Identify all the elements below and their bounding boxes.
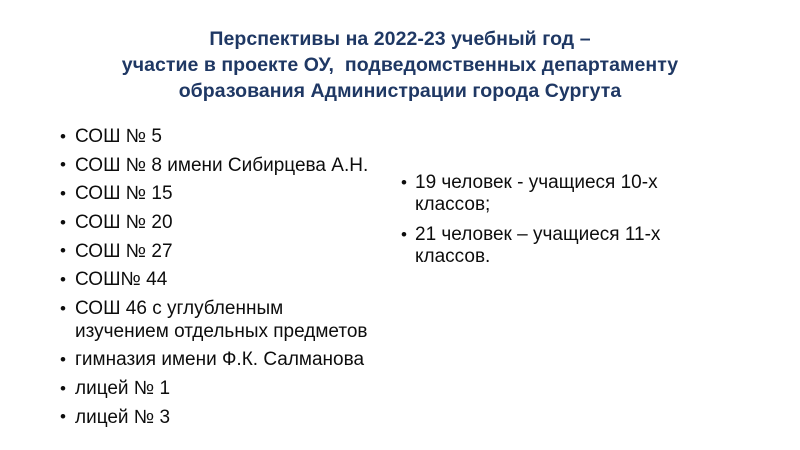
list-item: СОШ № 8 имени Сибирцева А.Н.: [58, 155, 398, 178]
schools-column: СОШ № 5 СОШ № 8 имени Сибирцева А.Н. СОШ…: [58, 126, 398, 435]
list-item: лицей № 1: [58, 378, 398, 401]
list-item: лицей № 3: [58, 407, 398, 430]
list-item: СОШ 46 с углубленным изучением отдельных…: [58, 298, 398, 343]
list-item: 19 человек - учащиеся 10-х классов;: [399, 172, 689, 216]
participants-list: 19 человек - учащиеся 10-х классов; 21 ч…: [399, 172, 689, 268]
participants-column: 19 человек - учащиеся 10-х классов; 21 ч…: [399, 172, 689, 276]
list-item: СОШ № 20: [58, 212, 398, 235]
schools-list: СОШ № 5 СОШ № 8 имени Сибирцева А.Н. СОШ…: [58, 126, 398, 429]
list-item: 21 человек – учащиеся 11-х классов.: [399, 224, 689, 268]
slide-canvas: Перспективы на 2022-23 учебный год – уча…: [0, 0, 800, 450]
list-item: СОШ № 15: [58, 183, 398, 206]
title-line-3: образования Администрации города Сургута: [60, 78, 740, 104]
title-line-2: участие в проекте ОУ, подведомственных д…: [60, 52, 740, 78]
title-line-1: Перспективы на 2022-23 учебный год –: [60, 26, 740, 52]
list-item: СОШ № 5: [58, 126, 398, 149]
list-item: СОШ№ 44: [58, 269, 398, 292]
list-item: СОШ № 27: [58, 241, 398, 264]
list-item: гимназия имени Ф.К. Салманова: [58, 349, 398, 372]
slide-title: Перспективы на 2022-23 учебный год – уча…: [60, 26, 740, 104]
